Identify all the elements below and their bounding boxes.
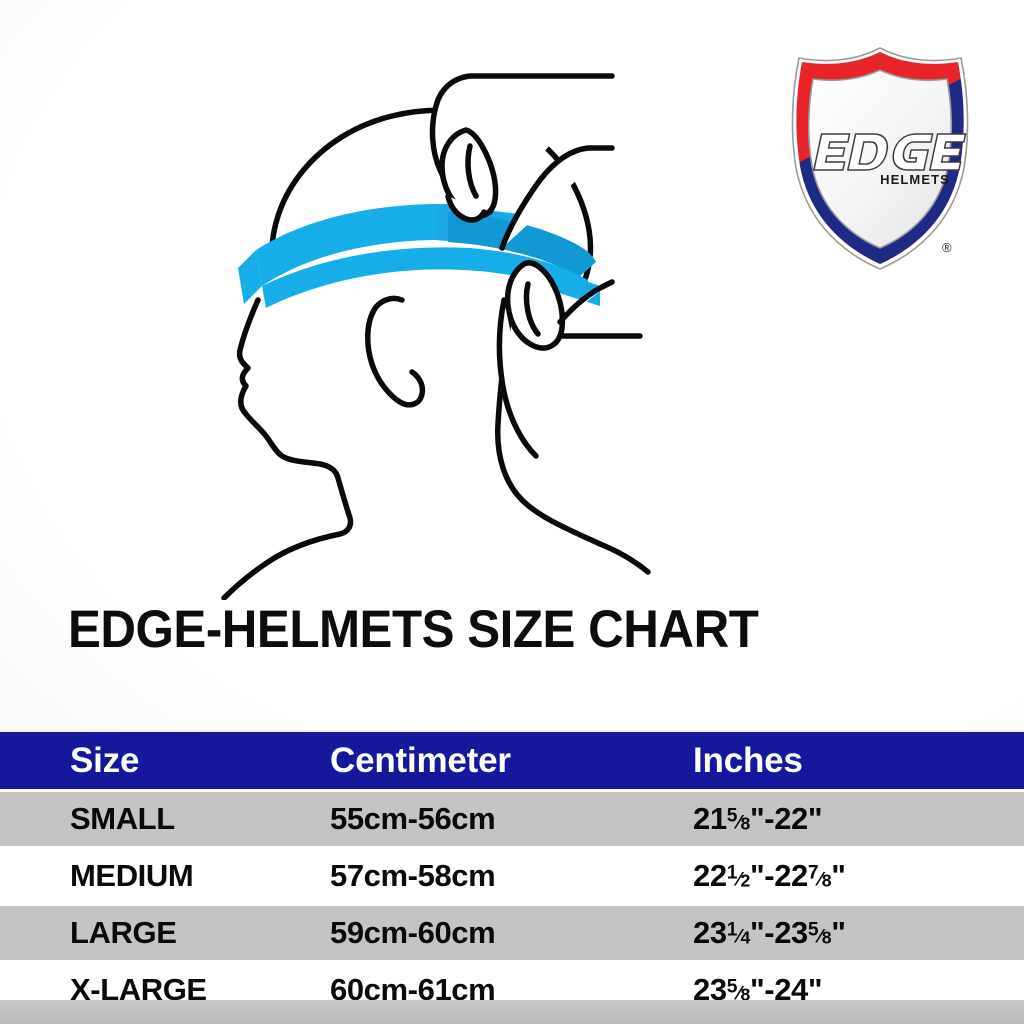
cell-centimeter: 55cm-56cm (330, 801, 495, 836)
page-title: EDGE-HELMETS SIZE CHART (68, 603, 758, 656)
table-header-row: Size Centimeter Inches (0, 732, 1024, 789)
cell-inches: 231⁄4"-235⁄8" (693, 915, 846, 950)
column-header-centimeter: Centimeter (330, 741, 511, 780)
cell-centimeter: 57cm-58cm (330, 858, 495, 893)
logo-subtext: HELMETS (880, 172, 950, 187)
cell-size: LARGE (70, 915, 177, 950)
registered-trademark-icon: ® (942, 240, 952, 255)
cell-inches: 215⁄8"-22" (693, 801, 822, 836)
column-header-size: Size (70, 741, 139, 780)
table-row: MEDIUM 57cm-58cm 221⁄2"-227⁄8" (0, 849, 1024, 903)
bottom-strip (0, 1000, 1024, 1024)
column-header-inches: Inches (693, 741, 803, 780)
cell-size: MEDIUM (70, 858, 193, 893)
size-chart-table: Size Centimeter Inches SMALL 55cm-56cm 2… (0, 730, 1024, 1017)
edge-helmets-logo: HELMETS ® (782, 44, 978, 270)
cell-centimeter: 59cm-60cm (330, 915, 495, 950)
cell-size: SMALL (70, 801, 175, 836)
table-row: SMALL 55cm-56cm 215⁄8"-22" (0, 792, 1024, 846)
size-chart-page: HELMETS ® EDGE-HELMETS SIZE CHART Size C… (0, 0, 1024, 1024)
table-row: LARGE 59cm-60cm 231⁄4"-235⁄8" (0, 906, 1024, 960)
cell-inches: 221⁄2"-227⁄8" (693, 858, 846, 893)
